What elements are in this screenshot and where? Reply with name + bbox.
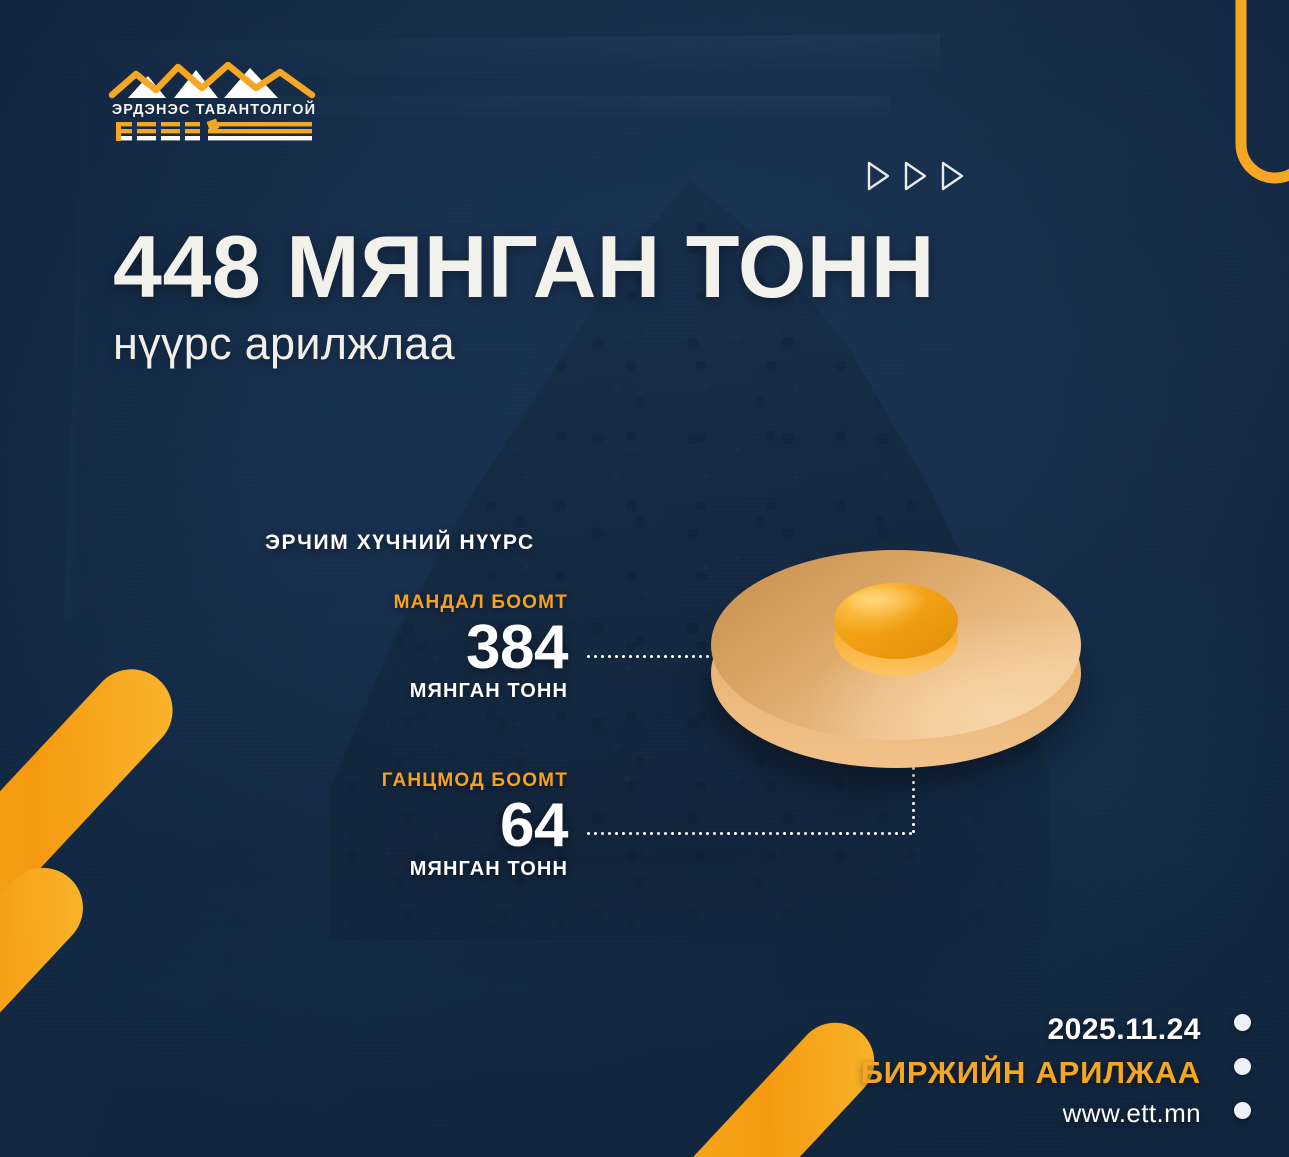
bullet-dot-3 — [1234, 1102, 1251, 1119]
footer-trade-label: БИРЖИЙН АРИЛЖАА — [861, 1055, 1201, 1091]
stat-mandal-boomt: МАНДАЛ БООМТ 384 МЯНГАН ТОНН — [268, 592, 568, 703]
donut-chart-3d — [700, 538, 1092, 796]
stat-gantsmod-unit: МЯНГАН ТОНН — [268, 858, 568, 881]
stat-gantsmod-boomt: ГАНЦМОД БООМТ 64 МЯНГАН ТОНН — [268, 770, 568, 881]
bullet-dot-2 — [1234, 1058, 1251, 1075]
infographic-poster: ЭРДЭНЭС ТАВАНТОЛГОЙ 448 МЯНГАН ТОНН нүүр… — [0, 0, 1289, 1157]
chart-title: ЭРЧИМ ХҮЧНИЙ НҮҮРС — [265, 531, 535, 555]
footer-bullet-dots — [1234, 1014, 1251, 1119]
headline-block: 448 МЯНГАН ТОНН нүүрс арилжлаа — [113, 222, 935, 370]
ett-logo[interactable]: ЭРДЭНЭС ТАВАНТОЛГОЙ — [104, 62, 324, 154]
stat-gantsmod-label: ГАНЦМОД БООМТ — [268, 770, 568, 792]
footer-block: 2025.11.24 БИРЖИЙН АРИЛЖАА www.ett.mn — [861, 1013, 1201, 1129]
footer-date: 2025.11.24 — [861, 1013, 1201, 1047]
bullet-dot-1 — [1234, 1014, 1251, 1031]
headline-subtitle: нүүрс арилжлаа — [113, 318, 935, 370]
headline-amount: 448 МЯНГАН ТОНН — [113, 222, 935, 312]
svg-text:ЭРДЭНЭС ТАВАНТОЛГОЙ: ЭРДЭНЭС ТАВАНТОЛГОЙ — [112, 100, 316, 118]
stat-gantsmod-value: 64 — [268, 794, 568, 857]
triple-chevron-right-icon — [866, 160, 966, 192]
stat-mandal-unit: МЯНГАН ТОНН — [268, 680, 568, 703]
yellow-hook-line — [1169, 0, 1289, 204]
donut-inner-highlight — [848, 588, 928, 618]
background-scanlines — [0, 0, 1289, 1157]
footer-website[interactable]: www.ett.mn — [861, 1098, 1201, 1129]
stat-mandal-value: 384 — [268, 616, 568, 679]
stat-mandal-label: МАНДАЛ БООМТ — [268, 592, 568, 614]
